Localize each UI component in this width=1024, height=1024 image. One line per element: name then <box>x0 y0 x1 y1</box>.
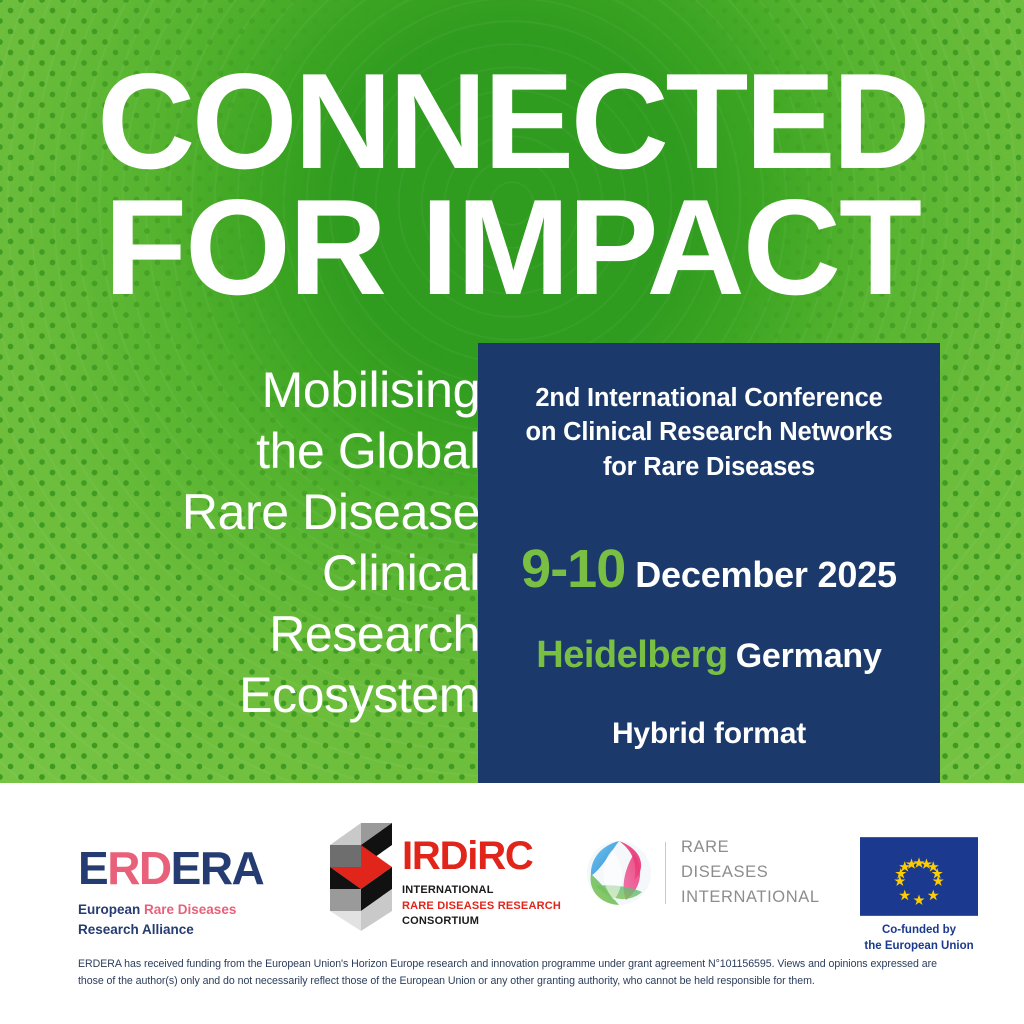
rdi-line-2: DISEASES <box>681 860 820 885</box>
subtitle-line-1: Mobilising <box>60 360 480 421</box>
subtitle-line-6: Ecosystem <box>60 665 480 726</box>
rdi-circle-swirl-icon <box>586 840 652 906</box>
poster-headline: CONNECTED FOR IMPACT <box>0 58 1024 311</box>
erdera-letter-r: R <box>107 842 139 894</box>
rdi-line-3: INTERNATIONAL <box>681 885 820 910</box>
irdirc-chevron-mark <box>330 823 392 931</box>
rare-diseases-international-logo: RARE DISEASES INTERNATIONAL <box>586 835 820 910</box>
subtitle-line-2: the Global <box>60 421 480 482</box>
event-location: HeidelbergGermany <box>506 634 912 677</box>
eu-caption-line-1: Co-funded by <box>855 923 983 939</box>
event-format: Hybrid format <box>506 717 912 751</box>
event-title-line-2: on Clinical Research Networks <box>506 415 912 449</box>
event-title: 2nd International Conference on Clinical… <box>506 381 912 484</box>
erdera-tagline-line-1: European Rare Diseases <box>78 900 293 920</box>
rdi-wordmark: RARE DISEASES INTERNATIONAL <box>681 835 820 910</box>
irdirc-subtitle-line-1: INTERNATIONAL <box>402 883 561 899</box>
event-date: 9-10December 2025 <box>506 538 912 600</box>
erdera-tagline-rare-diseases: Rare Diseases <box>144 902 236 917</box>
footer-bar: ERDERA European Rare Diseases Research A… <box>0 783 1024 1024</box>
irdirc-text-block: IRDiRC INTERNATIONAL RARE DISEASES RESEA… <box>402 824 561 930</box>
event-city: Heidelberg <box>536 634 727 676</box>
funding-disclaimer: ERDERA has received funding from the Eur… <box>78 956 950 990</box>
event-details-panel: 2nd International Conference on Clinical… <box>478 343 940 822</box>
subtitle-line-5: Research <box>60 604 480 665</box>
headline-line-2: FOR IMPACT <box>0 184 1024 310</box>
conference-poster: CONNECTED FOR IMPACT Mobilising the Glob… <box>0 0 1024 1024</box>
subtitle-line-3: Rare Disease <box>60 482 480 543</box>
eu-caption: Co-funded by the European Union <box>855 923 983 954</box>
headline-line-1: CONNECTED <box>0 58 1024 184</box>
rdi-line-1: RARE <box>681 835 820 860</box>
event-country: Germany <box>736 637 882 675</box>
eu-caption-line-2: the European Union <box>855 939 983 955</box>
subtitle-line-4: Clinical <box>60 543 480 604</box>
erdera-logo: ERDERA European Rare Diseases Research A… <box>78 845 293 939</box>
irdirc-logo: IRDiRC INTERNATIONAL RARE DISEASES RESEA… <box>330 823 561 931</box>
rdi-divider <box>665 842 666 904</box>
irdirc-subtitle-line-2: RARE DISEASES RESEARCH <box>402 899 561 915</box>
erdera-tagline: European Rare Diseases Research Alliance <box>78 900 293 939</box>
irdirc-subtitle-line-3: CONSORTIUM <box>402 914 561 930</box>
erdera-tagline-line-2: Research Alliance <box>78 920 293 940</box>
erdera-letter-d: D <box>139 842 171 894</box>
event-date-days: 9-10 <box>521 539 625 599</box>
erdera-letters-era: ERA <box>171 842 264 894</box>
eu-flag-icon <box>860 837 978 916</box>
partner-logo-row: ERDERA European Rare Diseases Research A… <box>0 815 1024 935</box>
event-title-line-1: 2nd International Conference <box>506 381 912 415</box>
poster-subtitle: Mobilising the Global Rare Disease Clini… <box>60 360 480 726</box>
eu-cofunding-logo: Co-funded by the European Union <box>855 837 983 954</box>
irdirc-wordmark: IRDiRC <box>402 836 561 876</box>
erdera-tagline-european: European <box>78 902 144 917</box>
irdirc-subtitle: INTERNATIONAL RARE DISEASES RESEARCH CON… <box>402 883 561 930</box>
event-date-month-year: December 2025 <box>635 554 897 595</box>
erdera-letter-e: E <box>78 842 107 894</box>
event-title-line-3: for Rare Diseases <box>506 450 912 484</box>
erdera-wordmark: ERDERA <box>78 845 293 891</box>
